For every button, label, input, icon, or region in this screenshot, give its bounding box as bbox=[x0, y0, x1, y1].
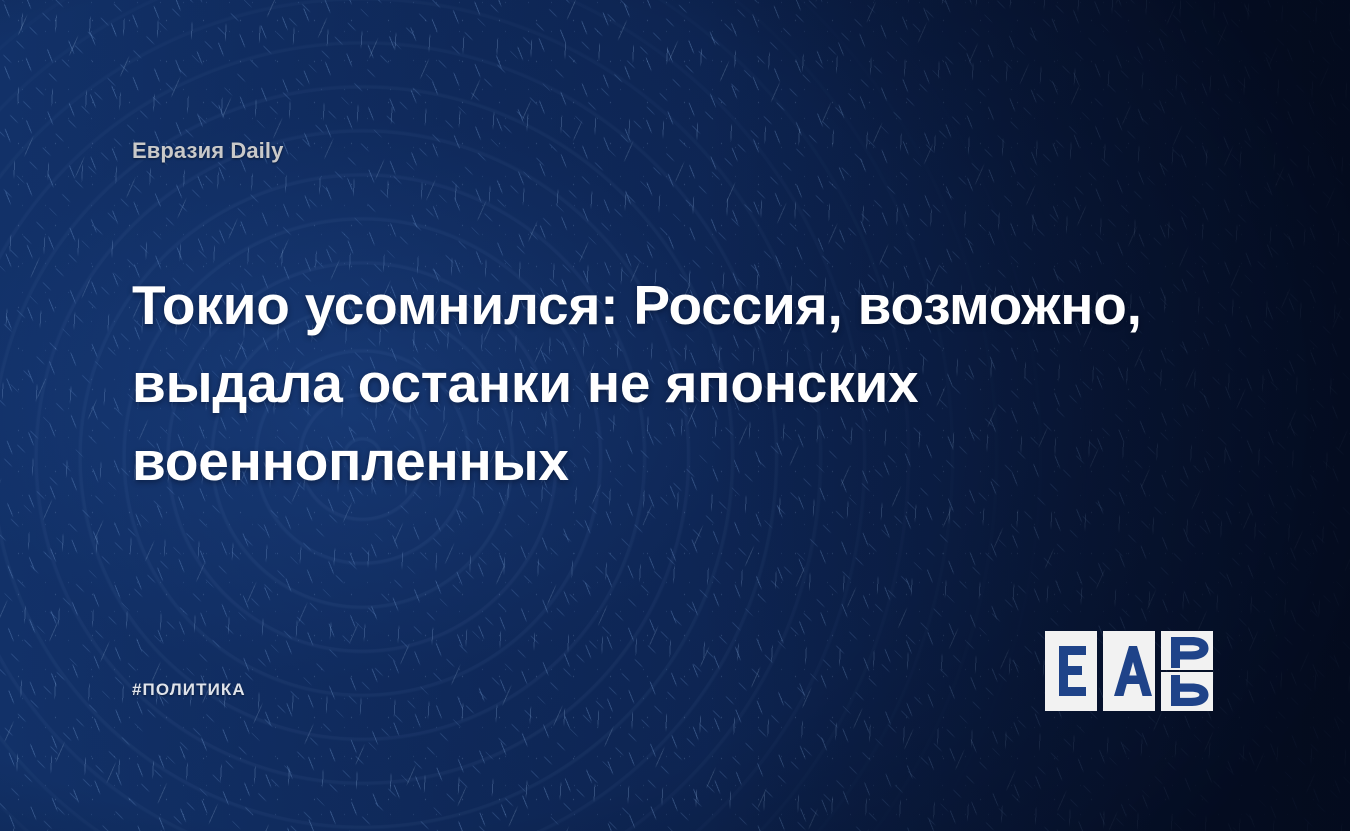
ead-logo: EAD bbox=[1045, 631, 1220, 713]
category-hashtag[interactable]: #ПОЛИТИКА bbox=[132, 680, 246, 700]
news-cover-card: Евразия Daily Токио усомнился: Россия, в… bbox=[0, 0, 1350, 831]
card-content: Евразия Daily Токио усомнился: Россия, в… bbox=[0, 0, 1350, 831]
brand-name: Евразия Daily bbox=[132, 138, 283, 164]
headline-title: Токио усомнился: Россия, возможно, выдал… bbox=[132, 266, 1192, 500]
